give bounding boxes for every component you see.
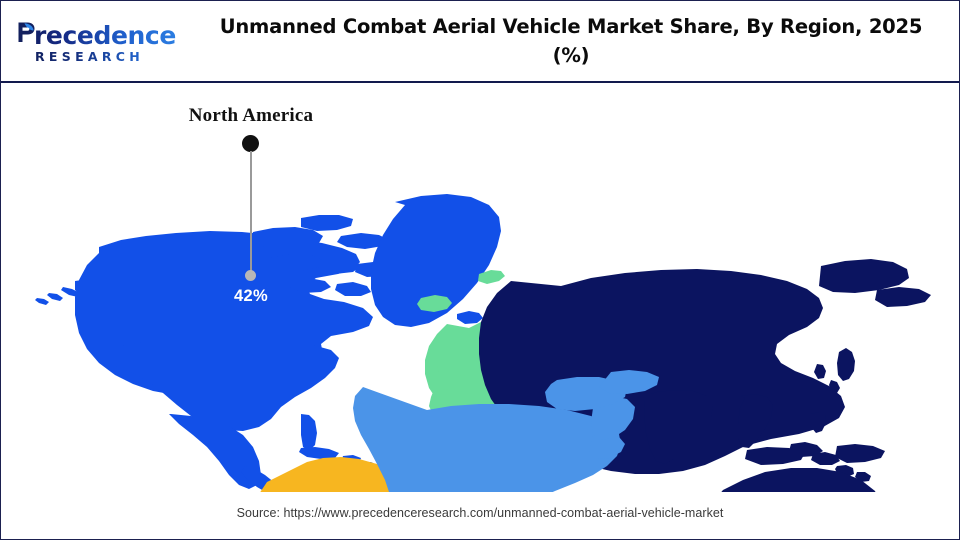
leaf-p-mark-icon [17,21,36,43]
header-bar: recedence RESEARCH Unmanned Combat Aeria… [1,1,959,83]
logo-subtitle: RESEARCH [15,49,190,64]
precedence-research-logo: recedence RESEARCH [15,17,190,69]
page-title: Unmanned Combat Aerial Vehicle Market Sh… [201,12,941,70]
footer-bar: Source: https://www.precedenceresearch.c… [1,492,959,539]
map-stage: North America 42% [1,84,959,492]
source-url: Source: https://www.precedenceresearch.c… [1,506,959,520]
world-map [1,84,959,492]
logo-word-text: recedence [34,21,176,50]
logo-wordmark: recedence [15,22,190,49]
infographic-page: recedence RESEARCH Unmanned Combat Aeria… [0,0,960,540]
